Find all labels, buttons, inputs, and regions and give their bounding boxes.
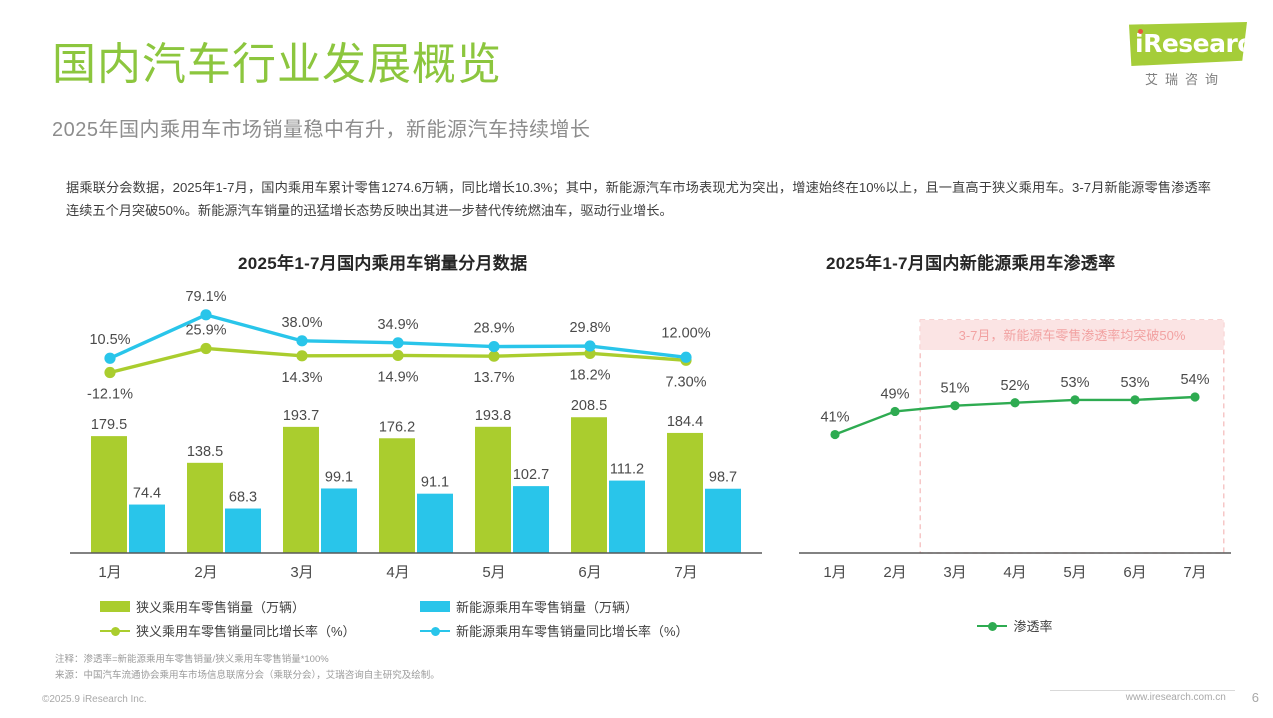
line-value-label: 54% <box>1180 372 1209 388</box>
iresearch-logo: iResearch 艾瑞咨询 <box>1129 22 1247 92</box>
bar-value-label: 193.8 <box>475 408 511 424</box>
bar-value-label: 179.5 <box>91 417 127 433</box>
left-chart-title: 2025年1-7月国内乘用车销量分月数据 <box>238 249 527 274</box>
line-marker <box>890 407 899 416</box>
line-marker <box>488 341 499 352</box>
legend-line-marker-icon <box>977 620 1007 632</box>
line-marker <box>1190 392 1199 401</box>
note-source: 来源：中国汽车流通协会乘用车市场信息联席分会（乘联分会），艾瑞咨询自主研究及绘制… <box>55 668 440 684</box>
bar-value-label: 98.7 <box>709 470 737 486</box>
x-tick-label: 7月 <box>1183 564 1206 581</box>
monthly-sales-svg: 179.574.4138.568.3193.799.1176.291.1193.… <box>66 285 766 585</box>
line-value-label: 53% <box>1060 375 1089 391</box>
annotation-box <box>920 320 1224 553</box>
x-tick-label: 6月 <box>578 564 601 581</box>
legend-item-1[interactable]: 新能源乘用车零售销量（万辆） <box>420 597 740 616</box>
line-marker <box>104 353 115 364</box>
x-tick-label: 1月 <box>823 564 846 581</box>
line-value-label: 25.9% <box>185 322 226 338</box>
right-chart-legend: 渗透率 <box>795 616 1235 635</box>
logo-wordmark: iResearch <box>1129 24 1269 64</box>
bar <box>129 505 165 553</box>
left-chart-legend: 狭义乘用车零售销量（万辆） 新能源乘用车零售销量（万辆） 狭义乘用车零售销量同比… <box>100 597 740 645</box>
nev-penetration-svg: 3-7月，新能源车零售渗透率均突破50%41%49%51%52%53%53%54… <box>795 285 1235 585</box>
legend-row: 狭义乘用车零售销量（万辆） 新能源乘用车零售销量（万辆） <box>100 597 740 616</box>
bar-value-label: 99.1 <box>325 469 353 485</box>
bar <box>417 494 453 553</box>
x-tick-label: 1月 <box>98 564 121 581</box>
x-tick-label: 7月 <box>674 564 697 581</box>
legend-line-marker-icon <box>420 625 450 637</box>
line-value-label: 28.9% <box>473 321 514 337</box>
legend-label: 渗透率 <box>1013 616 1052 635</box>
legend-item-3[interactable]: 新能源乘用车零售销量同比增长率（%） <box>420 621 740 640</box>
line-value-label: 29.8% <box>569 320 610 336</box>
body-paragraph: 据乘联分会数据，2025年1-7月，国内乘用车累计零售1274.6万辆，同比增长… <box>66 176 1211 222</box>
line-value-label: 52% <box>1000 378 1029 394</box>
monthly-sales-chart: 179.574.4138.568.3193.799.1176.291.1193.… <box>66 285 766 585</box>
logo-badge: iResearch <box>1129 22 1247 66</box>
bar <box>667 433 703 553</box>
legend-line-marker-icon <box>100 625 130 637</box>
bar <box>91 436 127 553</box>
note-definition: 注释：渗透率=新能源乘用车零售销量/狭义乘用车零售销量*100% <box>55 652 440 668</box>
line-value-label: 10.5% <box>89 332 130 348</box>
logo-chinese-name: 艾瑞咨询 <box>1129 69 1241 88</box>
legend-swatch-icon <box>100 601 130 612</box>
bar <box>475 427 511 553</box>
annotation-text: 3-7月，新能源车零售渗透率均突破50% <box>959 328 1186 343</box>
line-value-label: 14.3% <box>281 370 322 386</box>
line-value-label: 53% <box>1120 375 1149 391</box>
line-value-label: -12.1% <box>87 387 133 403</box>
line-value-label: 41% <box>820 410 849 426</box>
bar-value-label: 102.7 <box>513 467 549 483</box>
line-value-label: 7.30% <box>665 374 706 390</box>
bar <box>187 463 223 553</box>
x-tick-label: 5月 <box>482 564 505 581</box>
bar-value-label: 184.4 <box>667 414 703 430</box>
x-tick-label: 5月 <box>1063 564 1086 581</box>
line-marker <box>950 401 959 410</box>
bar-value-label: 138.5 <box>187 444 223 460</box>
legend-label: 狭义乘用车零售销量（万辆） <box>136 597 305 616</box>
slide-page: iResearch 艾瑞咨询 国内汽车行业发展概览 2025年国内乘用车市场销量… <box>0 0 1273 718</box>
line-value-label: 34.9% <box>377 317 418 333</box>
legend-item-penetration[interactable]: 渗透率 <box>977 616 1052 635</box>
legend-swatch-icon <box>420 601 450 612</box>
line-marker <box>200 343 211 354</box>
line-value-label: 51% <box>940 381 969 397</box>
footer-url[interactable]: www.iresearch.com.cn <box>1126 692 1226 703</box>
x-tick-label: 2月 <box>883 564 906 581</box>
x-tick-label: 3月 <box>943 564 966 581</box>
bar-value-label: 68.3 <box>229 490 257 506</box>
nev-penetration-chart: 3-7月，新能源车零售渗透率均突破50%41%49%51%52%53%53%54… <box>795 285 1235 585</box>
bar <box>379 438 415 553</box>
page-title: 国内汽车行业发展概览 <box>52 40 502 91</box>
bar-value-label: 74.4 <box>133 486 161 502</box>
footer-copyright: ©2025.9 iResearch Inc. <box>42 694 147 705</box>
page-subtitle: 2025年国内乘用车市场销量稳中有升，新能源汽车持续增长 <box>52 113 591 142</box>
bar <box>705 489 741 553</box>
line-marker <box>584 340 595 351</box>
bar <box>225 509 261 553</box>
bar-value-label: 208.5 <box>571 398 607 414</box>
legend-row: 狭义乘用车零售销量同比增长率（%） 新能源乘用车零售销量同比增长率（%） <box>100 621 740 640</box>
legend-label: 狭义乘用车零售销量同比增长率（%） <box>136 621 356 640</box>
line-marker <box>1130 395 1139 404</box>
bar <box>513 486 549 553</box>
line-marker <box>392 337 403 348</box>
legend-item-0[interactable]: 狭义乘用车零售销量（万辆） <box>100 597 420 616</box>
bar <box>321 488 357 553</box>
legend-label: 新能源乘用车零售销量（万辆） <box>456 597 638 616</box>
legend-label: 新能源乘用车零售销量同比增长率（%） <box>456 621 689 640</box>
line-value-label: 49% <box>880 386 909 402</box>
x-tick-label: 2月 <box>194 564 217 581</box>
line-marker <box>296 335 307 346</box>
line-marker <box>830 430 839 439</box>
footer-right-group: www.iresearch.com.cn 6 <box>1126 690 1259 705</box>
legend-item-2[interactable]: 狭义乘用车零售销量同比增长率（%） <box>100 621 420 640</box>
line-value-label: 79.1% <box>185 289 226 305</box>
x-tick-label: 4月 <box>386 564 409 581</box>
line-value-label: 12.00% <box>661 325 710 341</box>
bar <box>609 481 645 553</box>
line-value-label: 38.0% <box>281 315 322 331</box>
footnotes: 注释：渗透率=新能源乘用车零售销量/狭义乘用车零售销量*100% 来源：中国汽车… <box>55 652 440 683</box>
line-marker <box>680 352 691 363</box>
line-value-label: 18.2% <box>569 367 610 383</box>
bar-value-label: 176.2 <box>379 419 415 435</box>
line-marker <box>392 350 403 361</box>
bar-value-label: 193.7 <box>283 408 319 424</box>
line-marker <box>104 367 115 378</box>
bar-value-label: 111.2 <box>610 462 644 478</box>
right-chart-title: 2025年1-7月国内新能源乘用车渗透率 <box>826 249 1115 274</box>
bar-value-label: 91.1 <box>421 475 449 491</box>
x-tick-label: 3月 <box>290 564 313 581</box>
footer-page-number: 6 <box>1252 690 1259 705</box>
bar <box>571 417 607 553</box>
line-marker <box>296 350 307 361</box>
logo-dot-icon <box>1138 29 1143 34</box>
x-tick-label: 4月 <box>1003 564 1026 581</box>
x-tick-label: 6月 <box>1123 564 1146 581</box>
line-value-label: 13.7% <box>473 370 514 386</box>
line-marker <box>1070 395 1079 404</box>
bar <box>283 427 319 553</box>
line-marker <box>200 309 211 320</box>
line-marker <box>1010 398 1019 407</box>
line-marker <box>488 351 499 362</box>
line-value-label: 14.9% <box>377 369 418 385</box>
